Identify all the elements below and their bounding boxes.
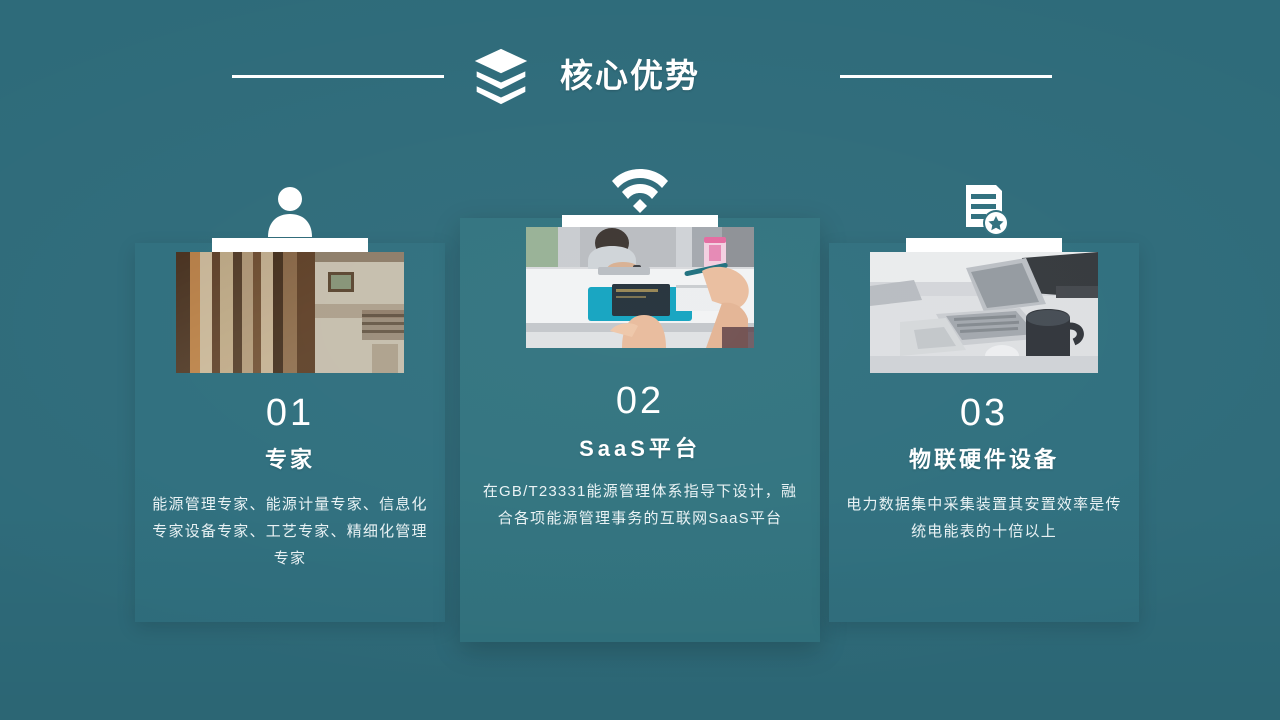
wifi-icon <box>612 162 668 218</box>
slide-root: 核心优势 <box>0 0 1280 720</box>
card-number: 03 <box>829 392 1139 434</box>
advantage-card-02[interactable]: 02 SaaS平台 在GB/T23331能源管理体系指导下设计，融合各项能源管理… <box>460 218 820 642</box>
stacked-layers-icon <box>471 47 531 105</box>
person-icon <box>262 183 318 239</box>
card-title: SaaS平台 <box>460 435 820 463</box>
card-body: 在GB/T23331能源管理体系指导下设计，融合各项能源管理事务的互联网SaaS… <box>476 478 804 532</box>
card-title: 专家 <box>135 446 445 474</box>
card-photo-01 <box>176 252 404 373</box>
header-rule-left <box>232 75 444 78</box>
card-title: 物联硬件设备 <box>829 446 1139 474</box>
card-body: 能源管理专家、能源计量专家、信息化专家设备专家、工艺专家、精细化管理专家 <box>151 491 429 572</box>
card-body: 电力数据集中采集装置其安置效率是传统电能表的十倍以上 <box>845 491 1123 545</box>
page-title: 核心优势 <box>560 53 810 99</box>
card-number: 02 <box>460 380 820 422</box>
card-number: 01 <box>135 392 445 434</box>
advantage-card-01[interactable]: 01 专家 能源管理专家、能源计量专家、信息化专家设备专家、工艺专家、精细化管理… <box>135 243 445 622</box>
card-photo-03 <box>870 252 1098 373</box>
certificate-star-icon <box>956 183 1012 239</box>
slide-header: 核心优势 <box>0 0 1280 140</box>
card-photo-02 <box>526 227 754 348</box>
advantage-card-03[interactable]: 03 物联硬件设备 电力数据集中采集装置其安置效率是传统电能表的十倍以上 <box>829 243 1139 622</box>
header-rule-right <box>840 75 1052 78</box>
